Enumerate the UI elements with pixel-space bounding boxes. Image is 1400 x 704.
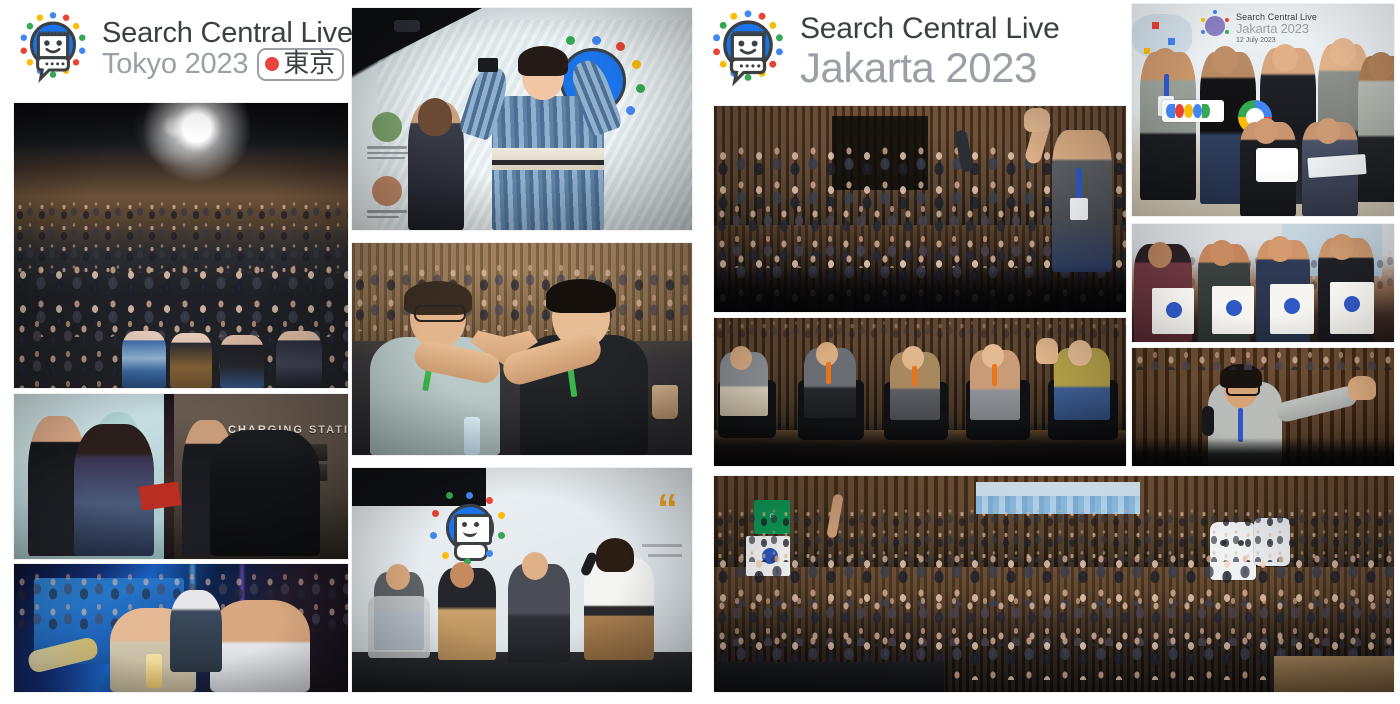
photo-jakarta-audience-waving xyxy=(714,106,1126,312)
jakarta-title-line1: Search Central Live xyxy=(800,14,1060,44)
photo-vignette xyxy=(352,8,692,230)
photo-tokyo-panel-discussion: “ xyxy=(352,468,692,692)
photo-vignette xyxy=(14,564,348,692)
search-central-mascot-icon xyxy=(706,8,790,94)
photo-jakarta-audience-question xyxy=(1132,348,1394,466)
tokyo-title-line2: Tokyo 2023 xyxy=(102,50,248,79)
photo-vignette xyxy=(714,318,1126,466)
japan-flag-icon xyxy=(265,57,279,71)
tokyo-title-line2-row: Tokyo 2023 東京 xyxy=(102,48,353,81)
photo-vignette xyxy=(1132,4,1394,216)
jakarta-logo xyxy=(706,8,790,94)
photo-jakarta-panel-discussion xyxy=(714,318,1126,466)
photo-tokyo-attendees-heart-hands xyxy=(352,243,692,455)
photo-jakarta-tote-bags xyxy=(1132,224,1394,342)
photo-jakarta-photo-wall-group: Search Central Live Jakarta 2023 12 July… xyxy=(1132,4,1394,216)
photo-vignette xyxy=(352,243,692,455)
jakarta-header: Search Central Live Jakarta 2023 xyxy=(706,8,1060,94)
photo-tokyo-stage-yukata-speaker xyxy=(352,8,692,230)
search-central-mascot-icon xyxy=(14,10,92,90)
tokyo-kanji: 東京 xyxy=(283,51,335,77)
jakarta-title-line2: Jakarta 2023 xyxy=(800,47,1060,89)
japan-badge: 東京 xyxy=(257,48,344,81)
photo-vignette xyxy=(1132,348,1394,466)
tokyo-title-line1: Search Central Live xyxy=(102,19,353,48)
tokyo-header: Search Central Live Tokyo 2023 東京 xyxy=(14,10,353,90)
photo-vignette xyxy=(714,476,1394,692)
photo-vignette xyxy=(1132,224,1394,342)
photo-jakarta-full-group-photo: G xyxy=(714,476,1394,692)
photo-vignette xyxy=(714,106,1126,312)
photo-tokyo-audience-group xyxy=(14,103,348,388)
photo-tokyo-networking-drinks xyxy=(14,564,348,692)
photo-tokyo-charging-station: CHARGING STATION xyxy=(14,394,348,559)
photo-vignette xyxy=(14,103,348,388)
photo-vignette xyxy=(14,394,348,559)
photo-vignette xyxy=(352,468,692,692)
tokyo-logo xyxy=(14,10,92,90)
collage-canvas: Search Central Live Tokyo 2023 東京 xyxy=(0,0,1400,704)
